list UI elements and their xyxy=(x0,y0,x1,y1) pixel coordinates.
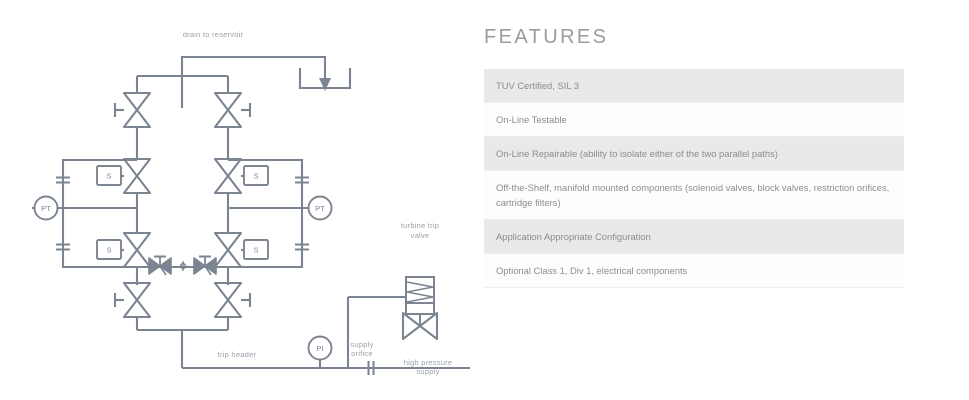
label-high-pressure-supply-line2: supply xyxy=(416,367,439,376)
features-panel: FEATURES TUV Certified, SIL 3On-Line Tes… xyxy=(484,0,909,400)
label-supply-orifice-line1: supply xyxy=(350,340,373,349)
valve-drain-left xyxy=(115,93,150,127)
actuator-base-icon xyxy=(406,303,434,314)
label-supply-orifice-line2: orifice xyxy=(351,349,373,358)
solenoid-label-lower-left: S xyxy=(107,246,112,255)
instrument-label-pt-right: PT xyxy=(315,204,325,213)
instrument-label-pt-left: PT xyxy=(41,204,51,213)
features-list: TUV Certified, SIL 3On-Line TestableOn-L… xyxy=(484,69,904,288)
label-drain-to-reservoir: drain to reservoir xyxy=(183,30,244,39)
features-heading: FEATURES xyxy=(484,26,608,49)
label-high-pressure-supply-line1: high pressure xyxy=(404,358,453,367)
label-trip-header: trip header xyxy=(218,350,257,359)
valve-trip-right xyxy=(215,283,250,317)
feature-row: Off-the-Shelf, manifold mounted componen… xyxy=(484,171,904,220)
label-turbine-trip-valve-line2: valve xyxy=(411,231,430,240)
solenoid-label-upper-left: S xyxy=(107,172,112,181)
pid-diagram: drain to reservoir xyxy=(0,0,470,400)
feature-row: TUV Certified, SIL 3 xyxy=(484,69,904,103)
instrument-label-pi-supply: PI xyxy=(316,344,323,353)
valve-trip-left xyxy=(115,283,150,317)
solenoid-label-lower-right: S xyxy=(254,246,259,255)
valve-bleed-right xyxy=(194,257,216,276)
test-port-centre xyxy=(181,261,186,271)
feature-row: On-Line Testable xyxy=(484,103,904,137)
feature-row: Optional Class 1, Div 1, electrical comp… xyxy=(484,254,904,288)
pid-diagram-panel: drain to reservoir xyxy=(0,0,470,400)
solenoid-label-upper-right: S xyxy=(254,172,259,181)
page-root: drain to reservoir xyxy=(0,0,969,400)
valve-drain-right xyxy=(215,93,250,127)
pipe-drain-run xyxy=(182,57,325,108)
label-turbine-trip-valve-line1: turbine trip xyxy=(401,221,439,230)
valve-bleed-left xyxy=(149,257,171,276)
feature-row: Application Appropriate Configuration xyxy=(484,220,904,254)
feature-row: On-Line Repairable (ability to isolate e… xyxy=(484,137,904,171)
